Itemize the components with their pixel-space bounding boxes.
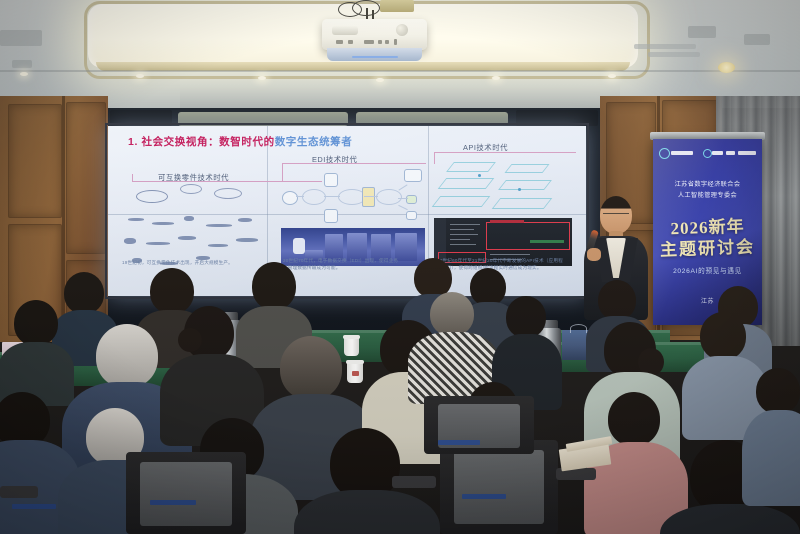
api-layer (446, 162, 496, 172)
blueprint-mark (128, 218, 144, 221)
api-layer (432, 196, 491, 207)
api-layer (498, 180, 552, 190)
blueprint-mark (178, 236, 196, 240)
diagram-node (404, 169, 422, 182)
speaker-hand (587, 248, 601, 261)
head (506, 296, 546, 338)
chair-mesh-panel (454, 450, 544, 524)
code-text-line (450, 239, 470, 240)
diagram-link (324, 196, 340, 197)
head (96, 324, 158, 388)
chair-seat-label (438, 440, 480, 445)
ceiling-projector (322, 19, 427, 50)
diagram-node (282, 191, 298, 205)
chair-armrest (392, 476, 436, 488)
head (14, 300, 58, 346)
diagram-link (398, 184, 407, 190)
diagram-node (406, 195, 417, 204)
ceiling-downlight (136, 74, 144, 78)
cup-logo (352, 371, 359, 376)
wood-panel (66, 102, 106, 254)
ceiling-downlight (258, 76, 266, 80)
diagram-node (324, 209, 338, 223)
chair-armrest (0, 486, 38, 498)
ceiling-vent (688, 26, 716, 38)
blueprint-mark (236, 238, 258, 242)
projector-lens (332, 26, 358, 35)
paper-cup (344, 337, 359, 356)
panel-caption-2: 20世纪70年代，电子数据交换（EDI）出现，使得业务与管理数据传输成为可能。 (283, 258, 401, 272)
wood-edge (62, 96, 65, 342)
ceiling-ac-slot (634, 44, 696, 49)
blueprint-mark (208, 244, 228, 247)
paper-cup-lid (343, 335, 360, 339)
blueprint-mark (206, 224, 232, 227)
speaker-glasses-icon (603, 213, 629, 219)
projector-port (336, 40, 343, 44)
blueprint-mark (136, 190, 168, 203)
era-rule-3 (434, 152, 576, 153)
code-text-line (450, 234, 478, 235)
torso (742, 410, 800, 506)
chair-seat-label (12, 504, 56, 509)
blueprint-mark (146, 242, 170, 245)
projector-port (364, 40, 374, 44)
chair-seat-label (462, 494, 506, 499)
blueprint-mark (152, 222, 174, 225)
gift-bag-handle (570, 324, 587, 333)
server-rack (395, 233, 417, 261)
ceiling-reveal-line (0, 70, 800, 72)
head (150, 268, 194, 314)
panel-caption-1: 19世纪初，可互换零件技术出现，开启大规模生产。 (122, 260, 240, 267)
head (598, 280, 636, 320)
annotation-box (486, 222, 570, 250)
code-text-line (490, 254, 530, 255)
hair-bun (178, 328, 202, 352)
server-rack (371, 234, 391, 261)
ceiling-vent (0, 30, 42, 46)
ceiling-downlight (608, 74, 616, 78)
server-rack (347, 233, 367, 261)
ceiling-ac-slot (648, 52, 700, 57)
era-rule-2 (282, 163, 426, 164)
blueprint-mark (238, 218, 252, 222)
head (470, 268, 506, 306)
projector-port (348, 40, 353, 44)
ceiling-can-light (718, 62, 735, 73)
projector-port (394, 39, 397, 45)
network-diagram (280, 165, 430, 227)
head (700, 312, 746, 360)
diagram-link (398, 198, 408, 199)
diagram-ellipse (302, 189, 326, 205)
ceiling-downlight (376, 78, 384, 82)
diagram-link (364, 196, 378, 197)
api-node (478, 174, 481, 177)
panel-caption-3: 20世纪60年代至21世纪20年代不断发展的API技术（应用程序接口），使得跨组… (437, 258, 565, 272)
slide-title-prefix: 1. 社会交换视角：数智时代的 (128, 136, 275, 148)
chair-seat-label (150, 500, 196, 505)
diagram-node (406, 211, 417, 220)
projector-dial (396, 24, 408, 36)
diagram-node (324, 173, 338, 187)
ceiling-downlight (20, 72, 28, 76)
blueprint-mark (180, 184, 202, 194)
api-layer (492, 198, 553, 209)
technician (293, 238, 305, 254)
projector-mount-plate (380, 0, 414, 12)
ceiling-vent (12, 60, 32, 68)
head (608, 392, 660, 446)
head (64, 272, 104, 314)
wood-panel (8, 104, 62, 218)
slide-title: 1. 社会交换视角：数智时代的数字生态统筹者 (128, 134, 352, 149)
server-rack (325, 234, 343, 260)
chair-mesh-panel (140, 462, 232, 526)
code-text-line (450, 244, 476, 245)
api-node (518, 188, 521, 191)
api-layer (504, 164, 549, 173)
conference-photo: 1. 社会交换视角：数智时代的数字生态统筹者 可互换零件技术时代 19世纪初，可… (0, 0, 800, 534)
api-layer (438, 178, 495, 189)
code-highlight-green (530, 240, 564, 243)
head (280, 336, 342, 400)
head (252, 262, 296, 310)
blueprint-mark (214, 188, 242, 199)
head (756, 368, 800, 414)
projector-glow (327, 48, 422, 61)
projector-status-led (352, 56, 398, 58)
diagram-ellipse (376, 189, 402, 205)
ceiling-vent (744, 34, 770, 45)
diagram-link (296, 196, 304, 197)
slide-title-highlight: 数字生态统筹者 (275, 136, 353, 148)
blueprint-mark (124, 238, 136, 244)
projector-port (385, 40, 389, 44)
code-text-line (450, 229, 474, 230)
blueprint-mark (184, 216, 194, 221)
head (430, 292, 474, 336)
diagram-node (362, 187, 375, 207)
diagram-link (398, 205, 407, 210)
projector-port (378, 40, 382, 44)
code-text-line (450, 224, 480, 225)
code-highlight-red (490, 220, 524, 223)
ceiling-downlight (492, 76, 500, 80)
api-layer-art (432, 158, 572, 216)
paper-cup-lid (346, 360, 364, 364)
